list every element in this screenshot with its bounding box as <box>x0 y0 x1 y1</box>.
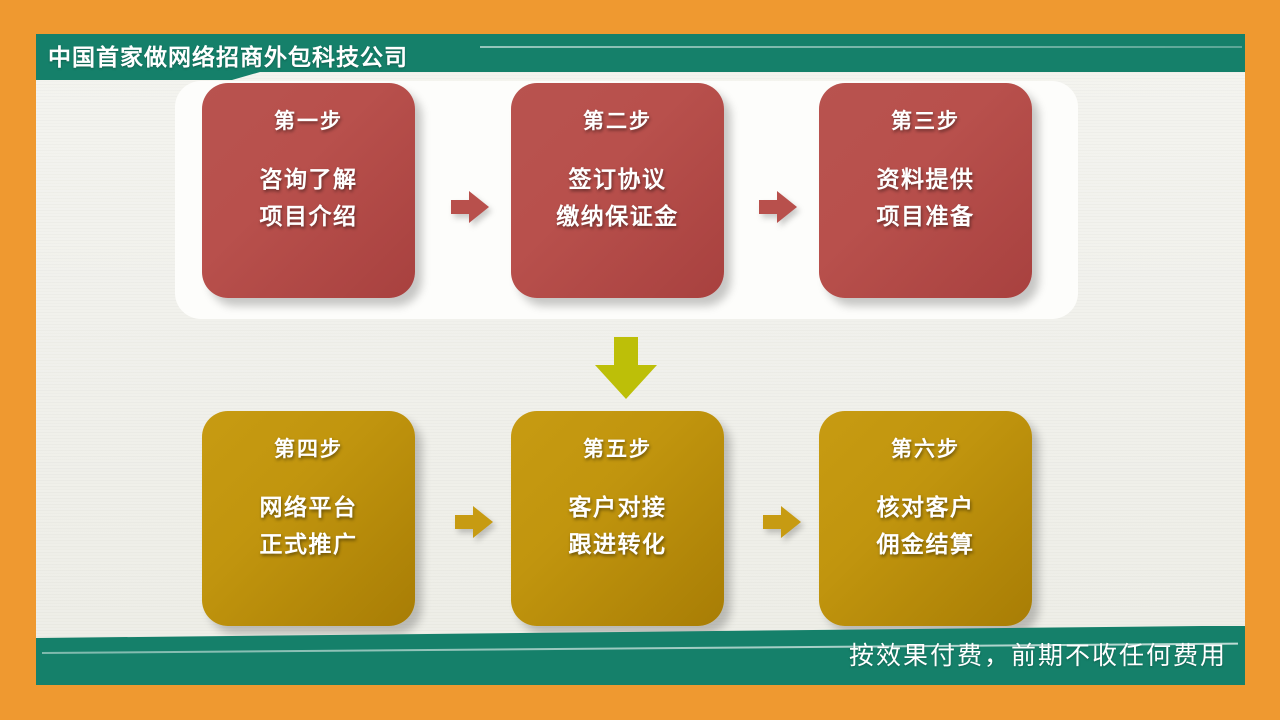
step-card-1[interactable]: 第一步 咨询了解 项目介绍 <box>202 83 415 298</box>
step-card-5-body: 客户对接 跟进转化 <box>569 489 667 564</box>
arrow-right-icon <box>759 189 797 225</box>
step-card-2[interactable]: 第二步 签订协议 缴纳保证金 <box>511 83 724 298</box>
arrow-right-icon <box>455 504 493 540</box>
step-card-4[interactable]: 第四步 网络平台 正式推广 <box>202 411 415 626</box>
step-card-4-line2: 正式推广 <box>260 526 358 563</box>
step-card-3-line2: 项目准备 <box>877 198 975 235</box>
slide-root: 中国首家做网络招商外包科技公司 第一步 咨询了解 项目介绍 第二步 签订协议 缴… <box>0 0 1280 720</box>
step-card-3-line1: 资料提供 <box>877 161 975 198</box>
slide-canvas: 中国首家做网络招商外包科技公司 第一步 咨询了解 项目介绍 第二步 签订协议 缴… <box>36 34 1245 685</box>
step-card-2-line1: 签订协议 <box>556 161 679 198</box>
step-card-5-line1: 客户对接 <box>569 489 667 526</box>
step-card-1-body: 咨询了解 项目介绍 <box>260 161 358 236</box>
footer-tagline: 按效果付费，前期不收任何费用 <box>849 636 1227 672</box>
step-card-1-line2: 项目介绍 <box>260 198 358 235</box>
arrow-right-icon <box>763 504 801 540</box>
step-card-6-line1: 核对客户 <box>877 489 975 526</box>
header-hairline-divider <box>480 46 1242 48</box>
step-card-4-line1: 网络平台 <box>260 489 358 526</box>
step-card-5-title: 第五步 <box>583 433 652 463</box>
arrow-right-icon <box>451 189 489 225</box>
arrow-down-icon <box>595 337 657 399</box>
step-card-1-line1: 咨询了解 <box>260 161 358 198</box>
step-card-3[interactable]: 第三步 资料提供 项目准备 <box>819 83 1032 298</box>
step-card-2-line2: 缴纳保证金 <box>556 198 679 235</box>
step-card-6[interactable]: 第六步 核对客户 佣金结算 <box>819 411 1032 626</box>
step-card-3-body: 资料提供 项目准备 <box>877 161 975 236</box>
step-card-2-body: 签订协议 缴纳保证金 <box>556 161 679 236</box>
step-card-6-line2: 佣金结算 <box>877 526 975 563</box>
footer-band: 按效果付费，前期不收任何费用 <box>36 626 1245 685</box>
step-card-4-title: 第四步 <box>274 433 343 463</box>
step-card-3-title: 第三步 <box>891 105 960 135</box>
page-title: 中国首家做网络招商外包科技公司 <box>48 37 408 77</box>
step-card-2-title: 第二步 <box>583 105 652 135</box>
step-card-6-body: 核对客户 佣金结算 <box>877 489 975 564</box>
step-card-5-line2: 跟进转化 <box>569 526 667 563</box>
step-card-6-title: 第六步 <box>891 433 960 463</box>
step-card-4-body: 网络平台 正式推广 <box>260 489 358 564</box>
step-card-5[interactable]: 第五步 客户对接 跟进转化 <box>511 411 724 626</box>
step-card-1-title: 第一步 <box>274 105 343 135</box>
